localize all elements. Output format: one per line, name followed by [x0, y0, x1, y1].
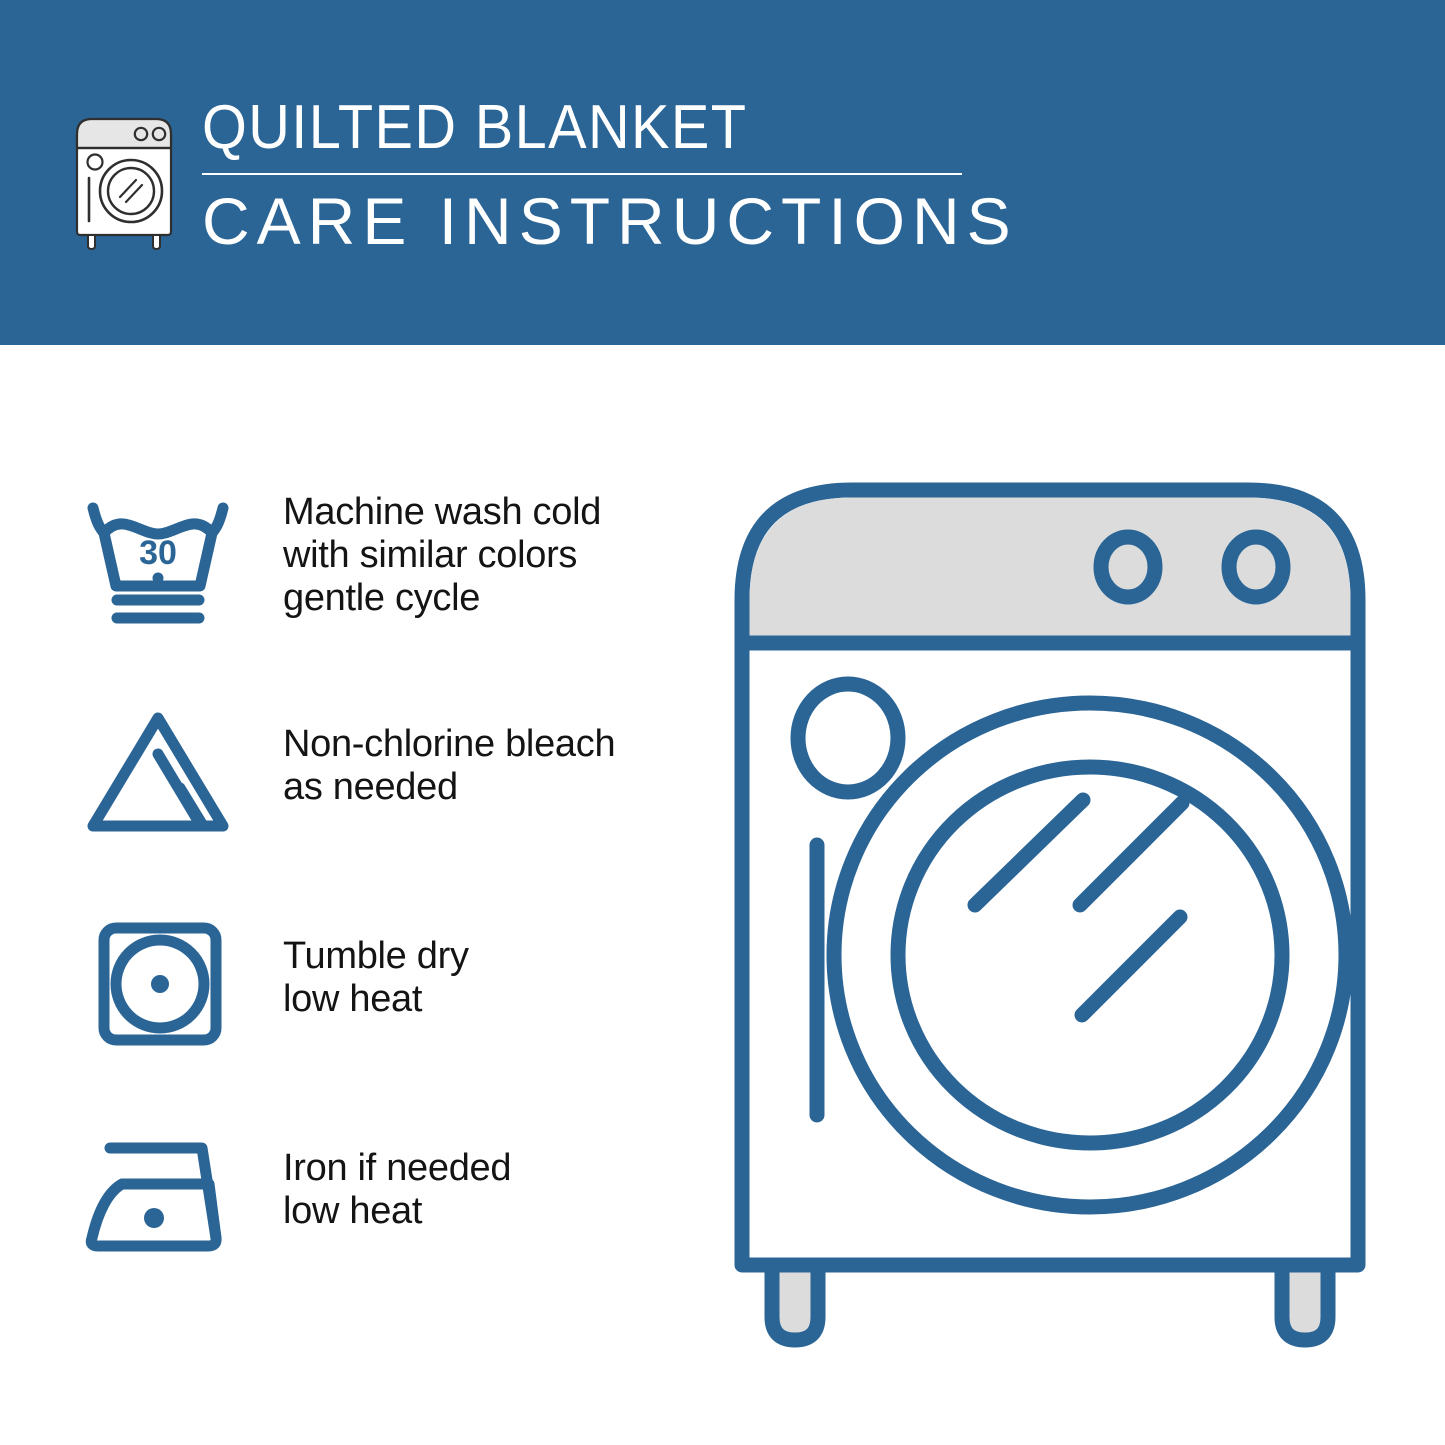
care-instructions-page: QUILTED BLANKET CARE INSTRUCTIONS — [0, 0, 1445, 1445]
header-content: QUILTED BLANKET CARE INSTRUCTIONS — [68, 95, 1018, 257]
care-label-line: as needed — [283, 766, 615, 809]
page-title: QUILTED BLANKET — [202, 95, 961, 161]
care-label-wash: Machine wash cold with similar colors ge… — [283, 485, 601, 620]
page-body: 30 Machine wash cold with similar colors… — [0, 345, 1445, 1445]
care-label-line: with similar colors — [283, 534, 601, 577]
list-item: Iron if needed low heat — [70, 1121, 690, 1271]
leg-left — [772, 1265, 818, 1340]
care-instruction-list: 30 Machine wash cold with similar colors… — [70, 485, 690, 1271]
wash-tub-30-gentle-icon: 30 — [70, 485, 245, 635]
control-panel — [750, 498, 1351, 644]
iron-low-heat-icon — [70, 1121, 245, 1271]
care-label-line: Non-chlorine bleach — [283, 723, 615, 766]
page-header: QUILTED BLANKET CARE INSTRUCTIONS — [0, 0, 1445, 345]
list-item: Tumble dry low heat — [70, 909, 690, 1059]
care-label-dry: Tumble dry low heat — [283, 909, 469, 1021]
washing-machine-icon — [68, 101, 180, 251]
list-item: Non-chlorine bleach as needed — [70, 697, 690, 847]
care-label-line: low heat — [283, 1190, 511, 1233]
care-label-line: Machine wash cold — [283, 491, 601, 534]
non-chlorine-bleach-triangle-icon — [70, 697, 245, 847]
care-label-line: Tumble dry — [283, 935, 469, 978]
care-label-line: low heat — [283, 978, 469, 1021]
list-item: 30 Machine wash cold with similar colors… — [70, 485, 690, 635]
wash-temperature-label: 30 — [139, 534, 177, 572]
tumble-dry-low-heat-icon — [70, 909, 245, 1059]
care-label-line: Iron if needed — [283, 1147, 511, 1190]
title-divider — [202, 173, 962, 175]
leg-right — [1282, 1265, 1328, 1340]
care-label-iron: Iron if needed low heat — [283, 1121, 511, 1233]
front-load-washing-machine-illustration — [700, 455, 1400, 1375]
header-title-block: QUILTED BLANKET CARE INSTRUCTIONS — [202, 95, 1018, 257]
care-label-bleach: Non-chlorine bleach as needed — [283, 697, 615, 809]
care-label-line: gentle cycle — [283, 577, 601, 620]
page-subtitle: CARE INSTRUCTIONS — [202, 185, 1018, 257]
